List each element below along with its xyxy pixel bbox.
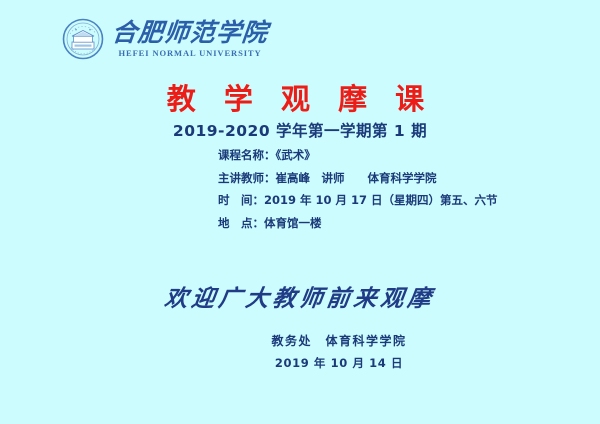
school-name-en: HEFEI NORMAL UNIVERSITY [118,49,261,58]
page-title: 教 学 观 摩 课 [0,76,600,118]
letterhead: 合肥师范学院 HEFEI NORMAL UNIVERSITY [62,18,268,60]
event-details: 课程名称：《武术》 主讲教师：崔高峰 讲师 体育科学学院 时 间：2019 年 … [218,144,498,234]
detail-time: 时 间：2019 年 10 月 17 日（星期四）第五、六节 [218,189,498,212]
signature-departments: 教务处 体育科学学院 [0,330,600,352]
signature-date: 2019 年 10 月 14 日 [0,352,600,374]
university-seal-icon [62,18,104,60]
detail-instructor: 主讲教师：崔高峰 讲师 体育科学学院 [218,167,498,190]
school-name-group: 合肥师范学院 HEFEI NORMAL UNIVERSITY [112,20,268,58]
school-name-cn: 合肥师范学院 [111,20,270,45]
welcome-message: 欢迎广大教师前来观摩 [0,279,600,313]
teaching-observation-poster: 合肥师范学院 HEFEI NORMAL UNIVERSITY 教 学 观 摩 课… [0,0,600,424]
term-subtitle: 2019-2020 学年第一学期第 1 期 [0,119,600,141]
signature-block: 教务处 体育科学学院 2019 年 10 月 14 日 [0,330,600,374]
detail-course-name: 课程名称：《武术》 [218,144,498,167]
detail-location: 地 点：体育馆一楼 [218,212,498,235]
